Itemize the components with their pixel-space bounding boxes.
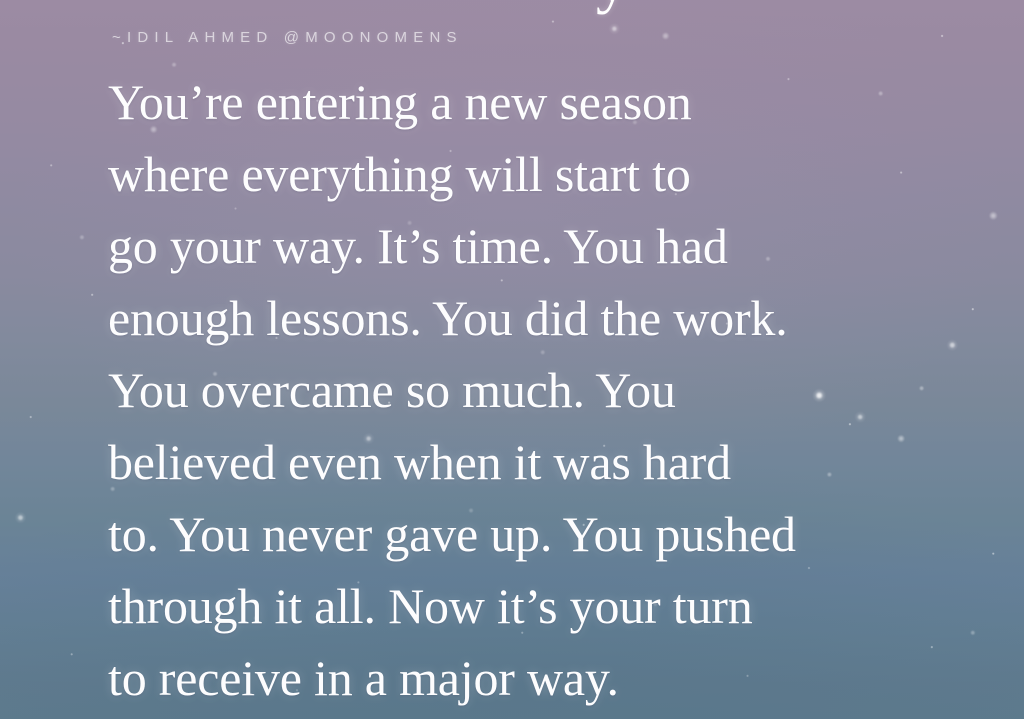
clipped-descender-glyph: y bbox=[596, 0, 629, 12]
quote-line: through it all. Now it’s your turn bbox=[108, 570, 928, 642]
quote-line: to. You never gave up. You pushed bbox=[108, 498, 928, 570]
quote-card: y ~IDIL AHMED @MOONOMENS You’re entering… bbox=[0, 0, 1024, 719]
quote-line: go your way. It’s time. You had bbox=[108, 210, 928, 282]
quote-line: You’re entering a new season bbox=[108, 66, 928, 138]
quote-line: enough lessons. You did the work. bbox=[108, 282, 928, 354]
quote-content: y ~IDIL AHMED @MOONOMENS You’re entering… bbox=[0, 0, 1024, 719]
quote-line: to receive in a major way. bbox=[108, 642, 928, 714]
quote-line: where everything will start to bbox=[108, 138, 928, 210]
quote-line: You overcame so much. You bbox=[108, 354, 928, 426]
attribution-credit: ~IDIL AHMED @MOONOMENS bbox=[112, 29, 463, 46]
quote-text-block: You’re entering a new season where every… bbox=[108, 66, 928, 714]
quote-line: believed even when it was hard bbox=[108, 426, 928, 498]
